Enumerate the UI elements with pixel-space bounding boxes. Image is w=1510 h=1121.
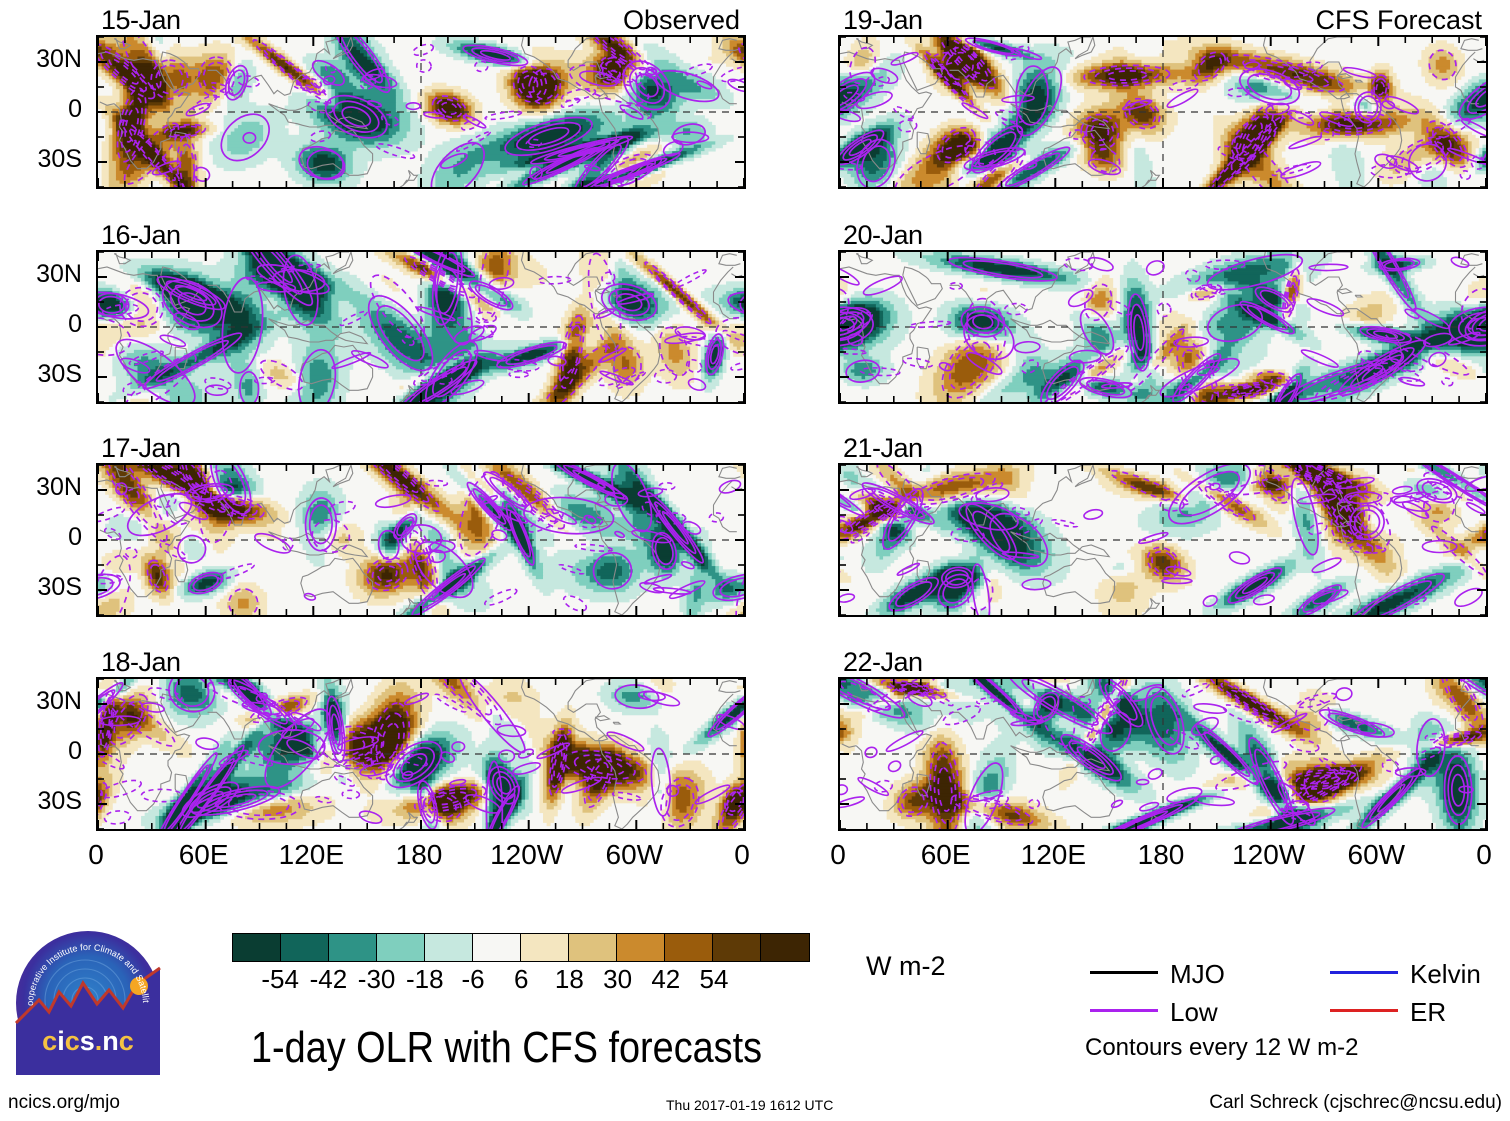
panel-date-label: 20-Jan	[843, 220, 923, 251]
y-axis-tick-label: 0	[0, 737, 82, 766]
y-axis-tick-label: 0	[0, 310, 82, 339]
panel-date-label: 18-Jan	[101, 647, 181, 678]
colorbar-tick-label: 54	[674, 964, 754, 995]
legend-line-kelvin	[1330, 971, 1398, 974]
x-axis-tick-label: 60W	[1316, 839, 1436, 871]
map-panel-20-jan	[838, 250, 1488, 404]
y-axis-tick-label: 30S	[0, 573, 82, 602]
map-panel-21-jan	[838, 463, 1488, 617]
legend-label-er: ER	[1410, 997, 1446, 1028]
y-axis-tick-label: 30S	[0, 360, 82, 389]
colorbar-segment	[617, 934, 665, 961]
x-axis-tick-label: 180	[359, 839, 479, 871]
colorbar-segment	[377, 934, 425, 961]
legend-label-kelvin: Kelvin	[1410, 959, 1481, 990]
x-axis-tick-label: 60E	[144, 839, 264, 871]
colorbar-segment	[761, 934, 809, 961]
panel-date-label: 19-Jan	[843, 5, 923, 36]
x-axis-tick-label: 120E	[251, 839, 371, 871]
colorbar-segment	[569, 934, 617, 961]
y-axis-tick-label: 0	[0, 95, 82, 124]
map-panel-18-jan	[96, 677, 746, 831]
footer-left[interactable]: ncics.org/mjo	[8, 1092, 120, 1114]
x-axis-tick-label: 0	[1424, 839, 1510, 871]
x-axis-tick-label: 120E	[993, 839, 1113, 871]
legend-line-low	[1090, 1009, 1158, 1012]
y-axis-tick-label: 30S	[0, 145, 82, 174]
y-axis-tick-label: 30N	[0, 473, 82, 502]
colorbar-segment	[521, 934, 569, 961]
x-axis-tick-label: 0	[36, 839, 156, 871]
contour-note: Contours every 12 W m-2	[1085, 1034, 1358, 1062]
y-axis-tick-label: 0	[0, 523, 82, 552]
colorbar-units: W m-2	[866, 951, 945, 982]
y-axis-tick-label: 30N	[0, 687, 82, 716]
legend-label-low: Low	[1170, 997, 1218, 1028]
y-axis-tick-label: 30N	[0, 260, 82, 289]
x-axis-tick-label: 60W	[574, 839, 694, 871]
panel-date-label: 21-Jan	[843, 433, 923, 464]
legend-line-mjo	[1090, 971, 1158, 974]
legend-line-er	[1330, 1009, 1398, 1012]
map-panel-19-jan	[838, 35, 1488, 189]
x-axis-tick-label: 60E	[886, 839, 1006, 871]
panel-date-label: 22-Jan	[843, 647, 923, 678]
y-axis-tick-label: 30N	[0, 45, 82, 74]
panel-date-label: 15-Jan	[101, 5, 181, 36]
colorbar-segment	[473, 934, 521, 961]
figure-title: 1-day OLR with CFS forecasts	[251, 1023, 762, 1073]
legend-label-mjo: MJO	[1170, 959, 1225, 990]
cics-nc-logo: cics.nc Cooperative Institute for Climat…	[13, 928, 163, 1078]
x-axis-tick-label: 120W	[467, 839, 587, 871]
colorbar-segment	[233, 934, 281, 961]
map-panel-16-jan	[96, 250, 746, 404]
colorbar	[232, 933, 810, 962]
map-panel-17-jan	[96, 463, 746, 617]
colorbar-segment	[281, 934, 329, 961]
column-header-observed: Observed	[623, 5, 740, 36]
footer-right: Carl Schreck (cjschrec@ncsu.edu)	[1209, 1092, 1502, 1114]
y-axis-tick-label: 30S	[0, 787, 82, 816]
x-axis-tick-label: 180	[1101, 839, 1221, 871]
column-header-forecast: CFS Forecast	[1315, 5, 1482, 36]
panel-date-label: 16-Jan	[101, 220, 181, 251]
x-axis-tick-label: 120W	[1209, 839, 1329, 871]
panel-date-label: 17-Jan	[101, 433, 181, 464]
colorbar-segment	[665, 934, 713, 961]
colorbar-segment	[329, 934, 377, 961]
map-panel-22-jan	[838, 677, 1488, 831]
x-axis-tick-label: 0	[778, 839, 898, 871]
footer-center: Thu 2017-01-19 1612 UTC	[666, 1097, 833, 1113]
colorbar-segment	[713, 934, 761, 961]
colorbar-segment	[425, 934, 473, 961]
map-panel-15-jan	[96, 35, 746, 189]
